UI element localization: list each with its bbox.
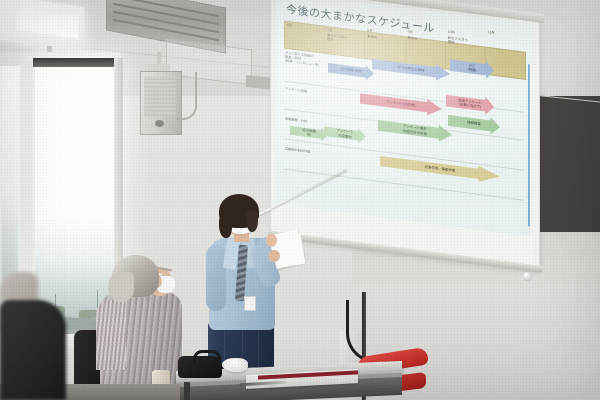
- schedule-arrow: 記事作成・編集作業: [380, 153, 500, 185]
- attendee-hair-back: [108, 272, 134, 302]
- month-label: 9月: [408, 30, 413, 35]
- schedule-grid: ゼミに関する情報の 調査・取材 (授業・インタビュー他) アンケート実施 情報整…: [284, 47, 524, 224]
- row-label: 情報整理・分析: [285, 117, 307, 124]
- presenter-hair-left: [219, 212, 232, 238]
- projected-slide: 今後の大まかなスケジュール 6月 7月 春セメスター 終了 8月 夏休み 9月 …: [276, 0, 530, 236]
- crumpled-tissue: [222, 358, 248, 372]
- month-note: 秋セメスター 開始: [448, 36, 468, 47]
- speaker-cable: [177, 72, 197, 120]
- schedule-arrow: 追加アンケート (企業に向けて): [446, 92, 494, 116]
- presenter-left-arm: [206, 245, 226, 311]
- month-note: 夏休み: [408, 36, 418, 42]
- presenter-hair-right: [247, 210, 258, 232]
- speaker-knob: [155, 120, 164, 127]
- speaker-grille: [144, 76, 176, 116]
- row-label: アンケート実施: [285, 87, 307, 94]
- row-label: 広報物の制作作業: [285, 147, 311, 154]
- month-note: 夏休み: [367, 34, 377, 40]
- month-note: 春セメスター 終了: [327, 33, 347, 44]
- desk-leg: [184, 382, 190, 400]
- foreground-blur-dark: [0, 300, 66, 400]
- presenter-hand-pointer: [266, 234, 277, 247]
- presenter-id-badge: [244, 296, 256, 311]
- screen-pull-knob[interactable]: [523, 272, 532, 281]
- attendee-shoulder: [96, 300, 126, 370]
- schedule-arrow: 情報精査: [448, 112, 500, 136]
- window-blind-headrail[interactable]: [33, 58, 121, 67]
- bag-handle: [193, 350, 221, 363]
- row-label: ゼミに関する情報の 調査・取材 (授業・インタビュー他): [285, 51, 319, 68]
- month-label: 11月: [488, 30, 495, 35]
- schedule-arrow: アンケート(内外様): [360, 90, 442, 117]
- month-label: 10月: [448, 30, 455, 35]
- presenter-hand-papers: [268, 250, 280, 262]
- schedule-arrow: アンケート集計 内容方針決定他: [378, 117, 452, 144]
- classroom-scene: 今後の大まかなスケジュール 6月 7月 春セメスター 終了 8月 夏休み 9月 …: [0, 0, 600, 400]
- schedule-arrow: アンケート 内容策材: [324, 124, 366, 144]
- month-label: 8月: [367, 28, 372, 33]
- schedule-arrow: ゼミ授業 取材: [328, 60, 374, 81]
- month-label: 6月: [287, 23, 292, 28]
- cosmos-festival-banner: コスモス祭: [528, 64, 530, 229]
